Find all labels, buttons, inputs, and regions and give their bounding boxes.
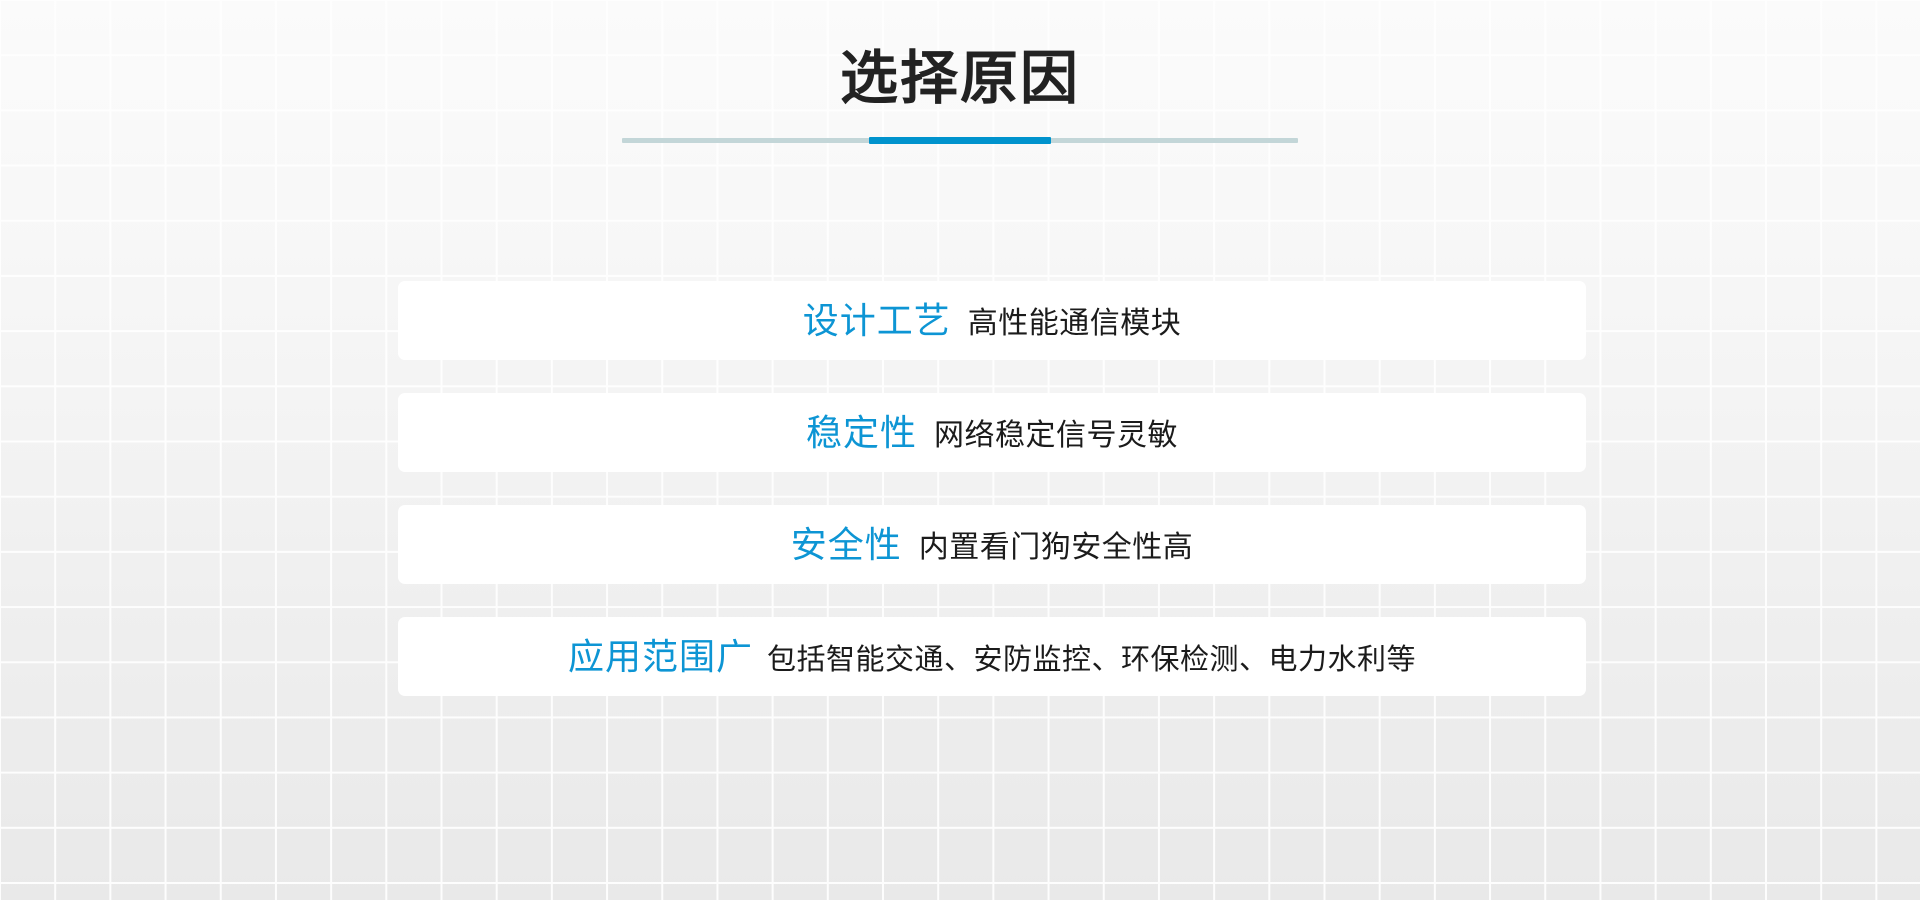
- reason-card-list: 设计工艺 高性能通信模块 稳定性 网络稳定信号灵敏 安全性 内置看门狗安全性高 …: [398, 281, 1586, 696]
- reason-card-term: 设计工艺: [803, 303, 951, 339]
- title-divider-accent: [869, 137, 1051, 144]
- page-root: 选择原因 设计工艺 高性能通信模块 稳定性 网络稳定信号灵敏 安全性 内置看门狗…: [0, 0, 1920, 900]
- reason-card-description: 包括智能交通、安防监控、环保检测、电力水利等: [767, 646, 1416, 675]
- reason-card-content: 设计工艺 高性能通信模块: [803, 303, 1182, 339]
- reason-card[interactable]: 应用范围广 包括智能交通、安防监控、环保检测、电力水利等: [398, 617, 1586, 696]
- reason-card-description: 网络稳定信号灵敏: [934, 421, 1178, 451]
- reason-card-content: 安全性 内置看门狗安全性高: [791, 527, 1194, 563]
- reason-card-description: 高性能通信模块: [968, 309, 1182, 339]
- reason-card[interactable]: 安全性 内置看门狗安全性高: [398, 505, 1586, 584]
- reason-card-description: 内置看门狗安全性高: [919, 533, 1194, 563]
- reason-card-content: 应用范围广 包括智能交通、安防监控、环保检测、电力水利等: [568, 639, 1416, 675]
- title-divider-rule: [622, 138, 1298, 143]
- reason-card-content: 稳定性 网络稳定信号灵敏: [806, 415, 1178, 451]
- reason-card-term: 安全性: [791, 527, 902, 563]
- reason-card[interactable]: 稳定性 网络稳定信号灵敏: [398, 393, 1586, 472]
- heading-section: 选择原因: [0, 50, 1920, 143]
- reason-card-term: 稳定性: [806, 415, 917, 451]
- page-title: 选择原因: [0, 50, 1920, 108]
- reason-card-term: 应用范围广: [568, 639, 753, 675]
- reason-card[interactable]: 设计工艺 高性能通信模块: [398, 281, 1586, 360]
